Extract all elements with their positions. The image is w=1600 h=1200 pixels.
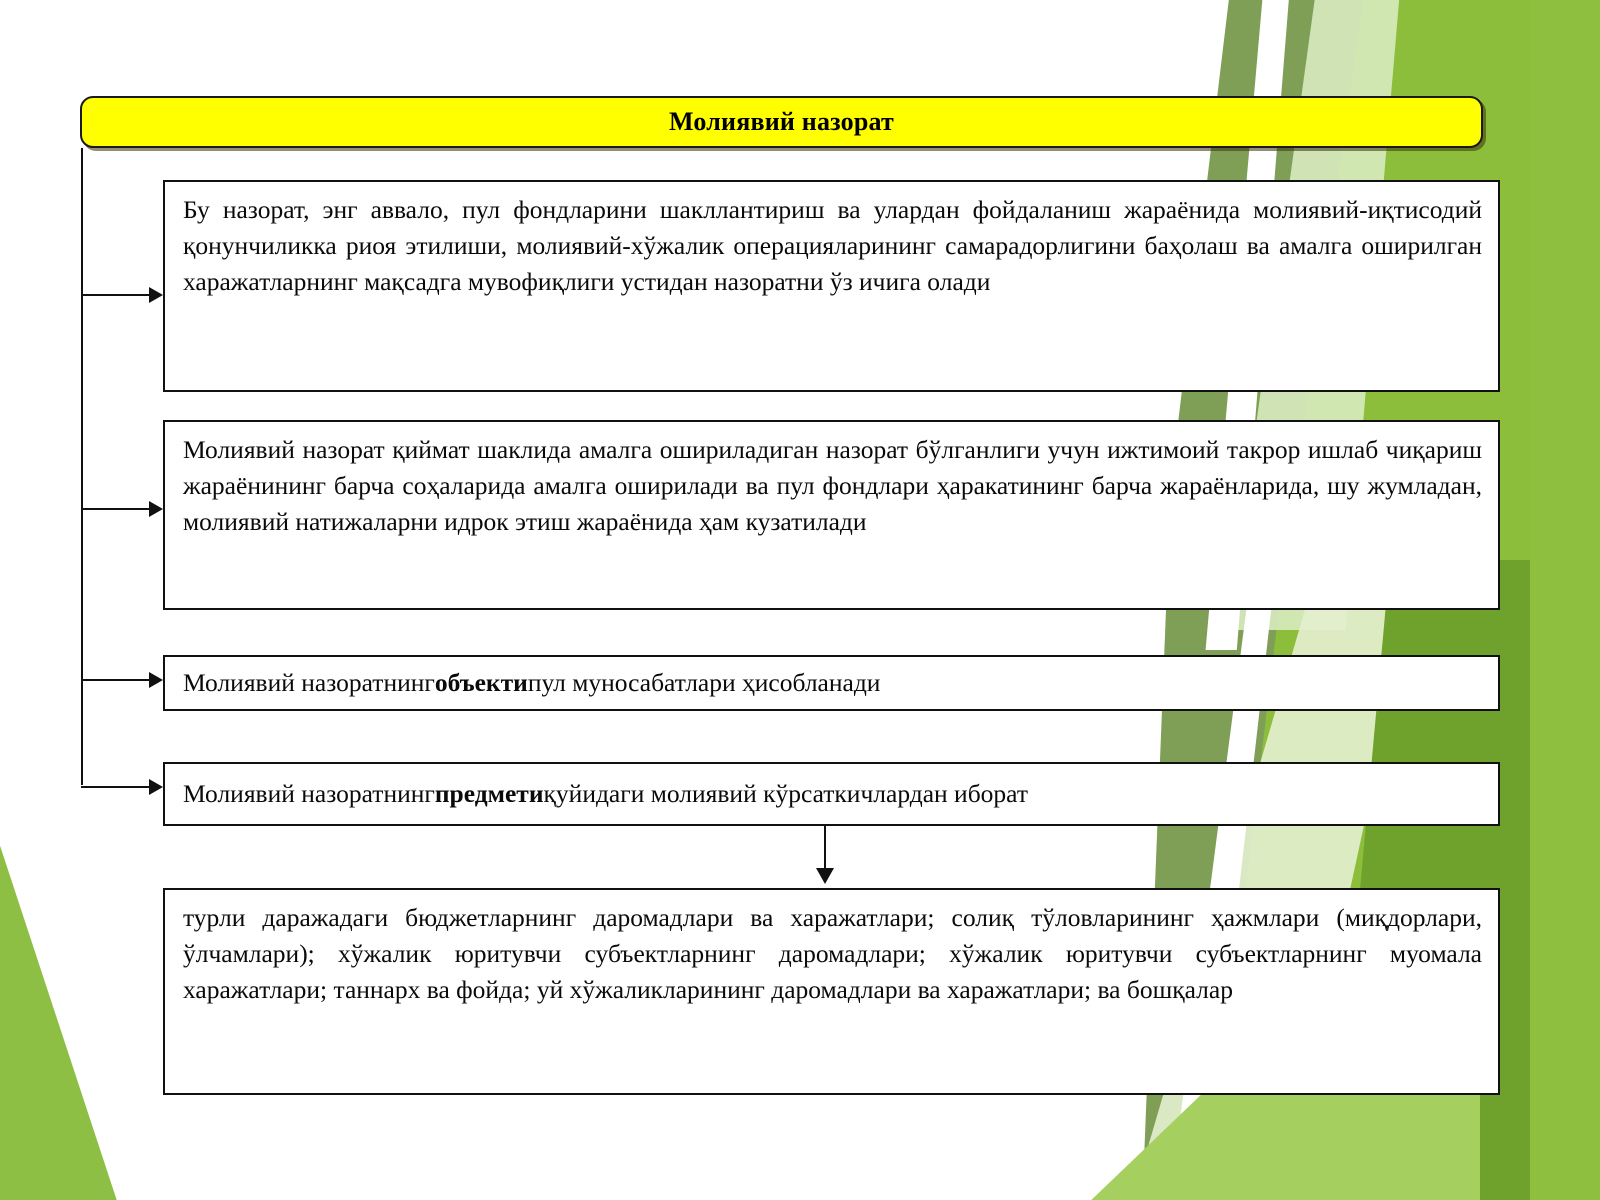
concept-box-subject-prefix: Молиявий назоратнинг	[183, 776, 435, 812]
white-slit-lower	[1150, 540, 1320, 1200]
connector-branch-1	[81, 294, 155, 296]
concept-box-scope-text: Молиявий назорат қиймат шаклида амалга о…	[183, 435, 1482, 536]
concept-box-object: Молиявий назоратнинг объекти пул муносаб…	[163, 655, 1500, 711]
concept-box-subject-suffix: қуйидаги молиявий кўрсаткичлардан иборат	[544, 776, 1028, 812]
concept-box-object-suffix: пул муносабатлари ҳисобланади	[528, 665, 881, 701]
connector-branch-2	[81, 508, 155, 510]
arrow-head-icon-down	[816, 868, 834, 884]
concept-box-indicators-text: турли даражадаги бюджетларнинг даромадла…	[183, 903, 1482, 1004]
connector-branch-3	[81, 679, 155, 681]
arrow-head-icon-4	[149, 779, 163, 795]
concept-box-indicators: турли даражадаги бюджетларнинг даромадла…	[163, 888, 1500, 1095]
concept-box-scope: Молиявий назорат қиймат шаклида амалга о…	[163, 420, 1500, 610]
connector-branch-4	[81, 786, 155, 788]
concept-box-definition: Бу назорат, энг аввало, пул фондларини ш…	[163, 180, 1500, 392]
green-triangle-bottom-left	[0, 790, 120, 1200]
arrow-head-icon-2	[149, 501, 163, 517]
slide-canvas: Молиявий назорат Бу назорат, энг аввало,…	[0, 0, 1600, 1200]
concept-box-subject: Молиявий назоратнинг предмети қуйидаги м…	[163, 762, 1500, 826]
connector-spine	[81, 148, 83, 785]
concept-box-subject-emphasis: предмети	[435, 776, 544, 812]
concept-box-object-prefix: Молиявий назоратнинг	[183, 665, 435, 701]
connector-drop-line	[824, 826, 826, 874]
concept-box-object-emphasis: объекти	[435, 665, 528, 701]
diagram-title-box: Молиявий назорат	[80, 96, 1483, 148]
pale-leaf-lower	[1120, 520, 1450, 1200]
arrow-head-icon-3	[149, 672, 163, 688]
concept-box-definition-text: Бу назорат, энг аввало, пул фондларини ш…	[183, 195, 1482, 296]
arrow-head-icon-1	[149, 287, 163, 303]
page-title: Молиявий назорат	[669, 107, 894, 137]
